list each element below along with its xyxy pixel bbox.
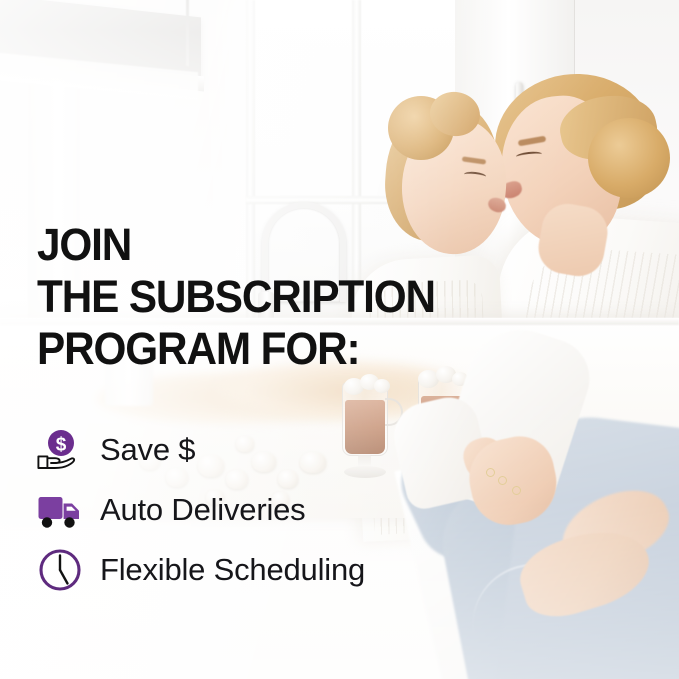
promo-content: JOIN THE SUBSCRIPTION PROGRAM FOR: $ xyxy=(0,0,679,679)
clock-icon xyxy=(36,546,84,594)
feature-item-save: $ Save $ xyxy=(36,420,506,480)
coin-dollar-in-hand-icon: $ xyxy=(36,426,84,474)
svg-text:$: $ xyxy=(56,435,67,456)
promo-image: JOIN THE SUBSCRIPTION PROGRAM FOR: $ xyxy=(0,0,679,679)
headline-line-1: JOIN xyxy=(37,219,435,271)
feature-label-auto-deliveries: Auto Deliveries xyxy=(100,492,305,528)
feature-label-save: Save $ xyxy=(100,432,195,468)
feature-item-auto-deliveries: Auto Deliveries xyxy=(36,480,506,540)
delivery-truck-icon xyxy=(36,486,84,534)
feature-item-flexible-scheduling: Flexible Scheduling xyxy=(36,540,506,600)
feature-label-flexible-scheduling: Flexible Scheduling xyxy=(100,552,365,588)
headline-line-3: PROGRAM FOR: xyxy=(37,323,435,375)
page-title: JOIN THE SUBSCRIPTION PROGRAM FOR: xyxy=(37,219,435,375)
feature-list: $ Save $ xyxy=(36,420,506,600)
headline-line-2: THE SUBSCRIPTION xyxy=(37,271,435,323)
